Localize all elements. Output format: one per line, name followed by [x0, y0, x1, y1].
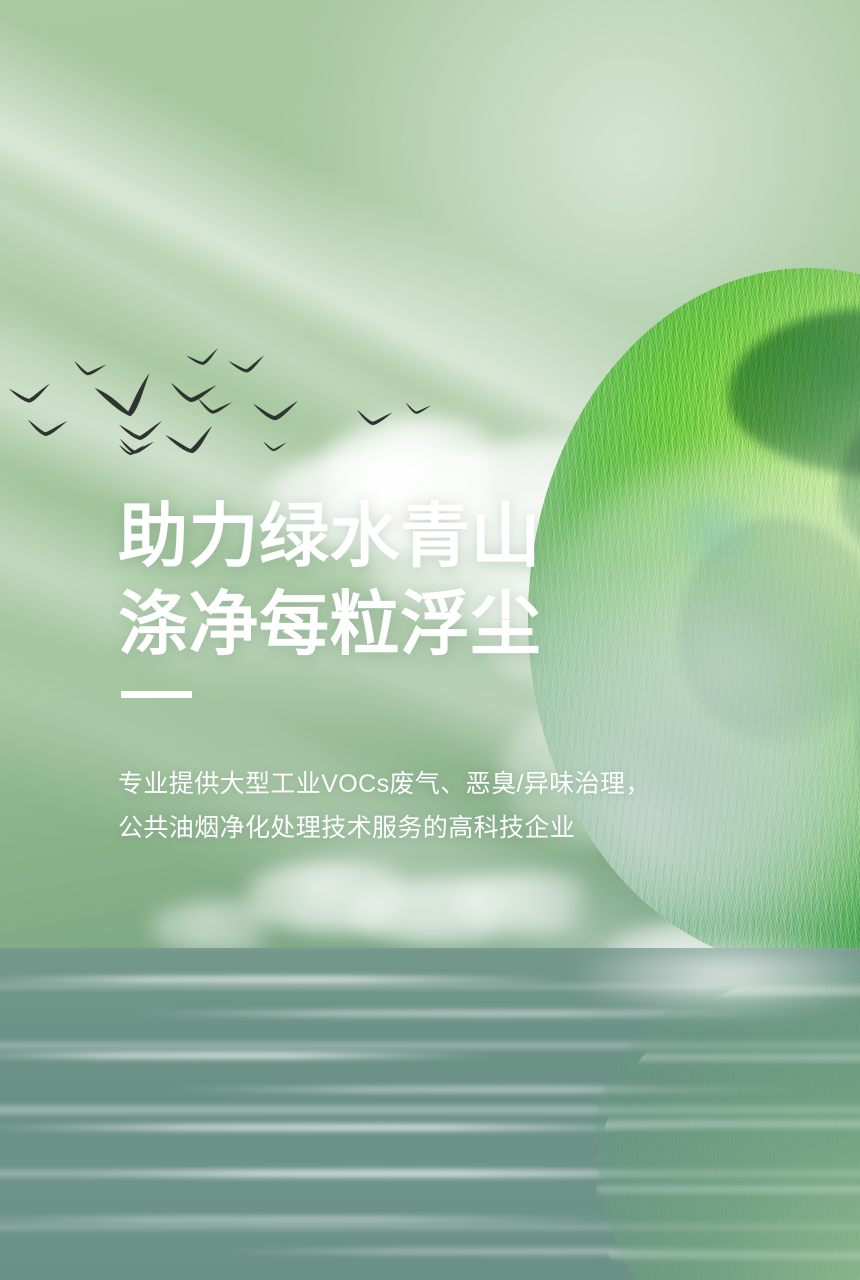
- water-streaks: [0, 948, 860, 1280]
- banner-canvas: 助力绿水青山 涤净每粒浮尘 专业提供大型工业VOCs废气、恶臭/异味治理， 公共…: [0, 0, 860, 1280]
- subtitle-line-2: 公共油烟净化处理技术服务的高科技企业: [118, 806, 651, 850]
- water-wave: [0, 1124, 720, 1131]
- water-wave: [200, 1248, 840, 1255]
- headline-line-2: 涤净每粒浮尘: [118, 580, 541, 668]
- water-wave: [60, 1170, 700, 1177]
- title-divider: [121, 691, 192, 698]
- page-subtitle: 专业提供大型工业VOCs废气、恶臭/异味治理， 公共油烟净化处理技术服务的高科技…: [118, 762, 651, 850]
- water-wave: [120, 1010, 820, 1017]
- subtitle-line-1: 专业提供大型工业VOCs废气、恶臭/异味治理，: [118, 762, 651, 806]
- headline-line-1: 助力绿水青山: [118, 492, 541, 580]
- page-title: 助力绿水青山 涤净每粒浮尘: [118, 492, 541, 668]
- water-surface: [0, 948, 860, 1280]
- water-wave: [160, 1086, 820, 1093]
